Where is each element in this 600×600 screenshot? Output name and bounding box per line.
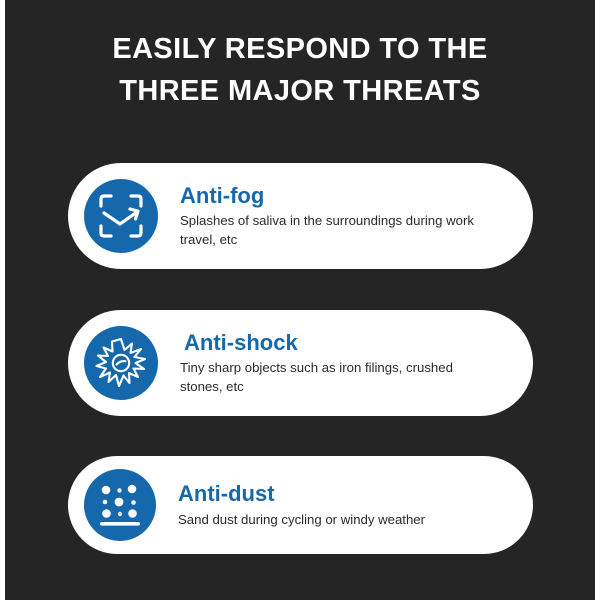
scan-frame-arrow-icon — [84, 179, 158, 253]
card-title: Anti-dust — [178, 481, 515, 506]
card-title: Anti-fog — [180, 183, 515, 208]
feature-card-anti-fog[interactable]: Anti-fog Splashes of saliva in the surro… — [68, 163, 533, 269]
feature-card-anti-shock[interactable]: Anti-shock Tiny sharp objects such as ir… — [68, 310, 533, 416]
page-title-line-2: THREE MAJOR THREATS — [0, 70, 600, 112]
feature-card-anti-dust[interactable]: Anti-dust Sand dust during cycling or wi… — [68, 456, 533, 554]
card-description: Tiny sharp objects such as iron filings,… — [180, 359, 515, 395]
card-text-block: Anti-shock Tiny sharp objects such as ir… — [158, 330, 533, 396]
card-description: Sand dust during cycling or windy weathe… — [178, 511, 515, 529]
page-title: EASILY RESPOND TO THE THREE MAJOR THREAT… — [0, 28, 600, 112]
card-text-block: Anti-fog Splashes of saliva in the surro… — [158, 183, 533, 249]
poster: EASILY RESPOND TO THE THREE MAJOR THREAT… — [0, 0, 600, 600]
card-title: Anti-shock — [180, 330, 515, 355]
impact-burst-icon — [84, 326, 158, 400]
dust-particles-icon — [84, 469, 156, 541]
page-title-line-1: EASILY RESPOND TO THE — [0, 28, 600, 70]
card-description: Splashes of saliva in the surroundings d… — [180, 212, 515, 248]
card-text-block: Anti-dust Sand dust during cycling or wi… — [156, 481, 533, 529]
